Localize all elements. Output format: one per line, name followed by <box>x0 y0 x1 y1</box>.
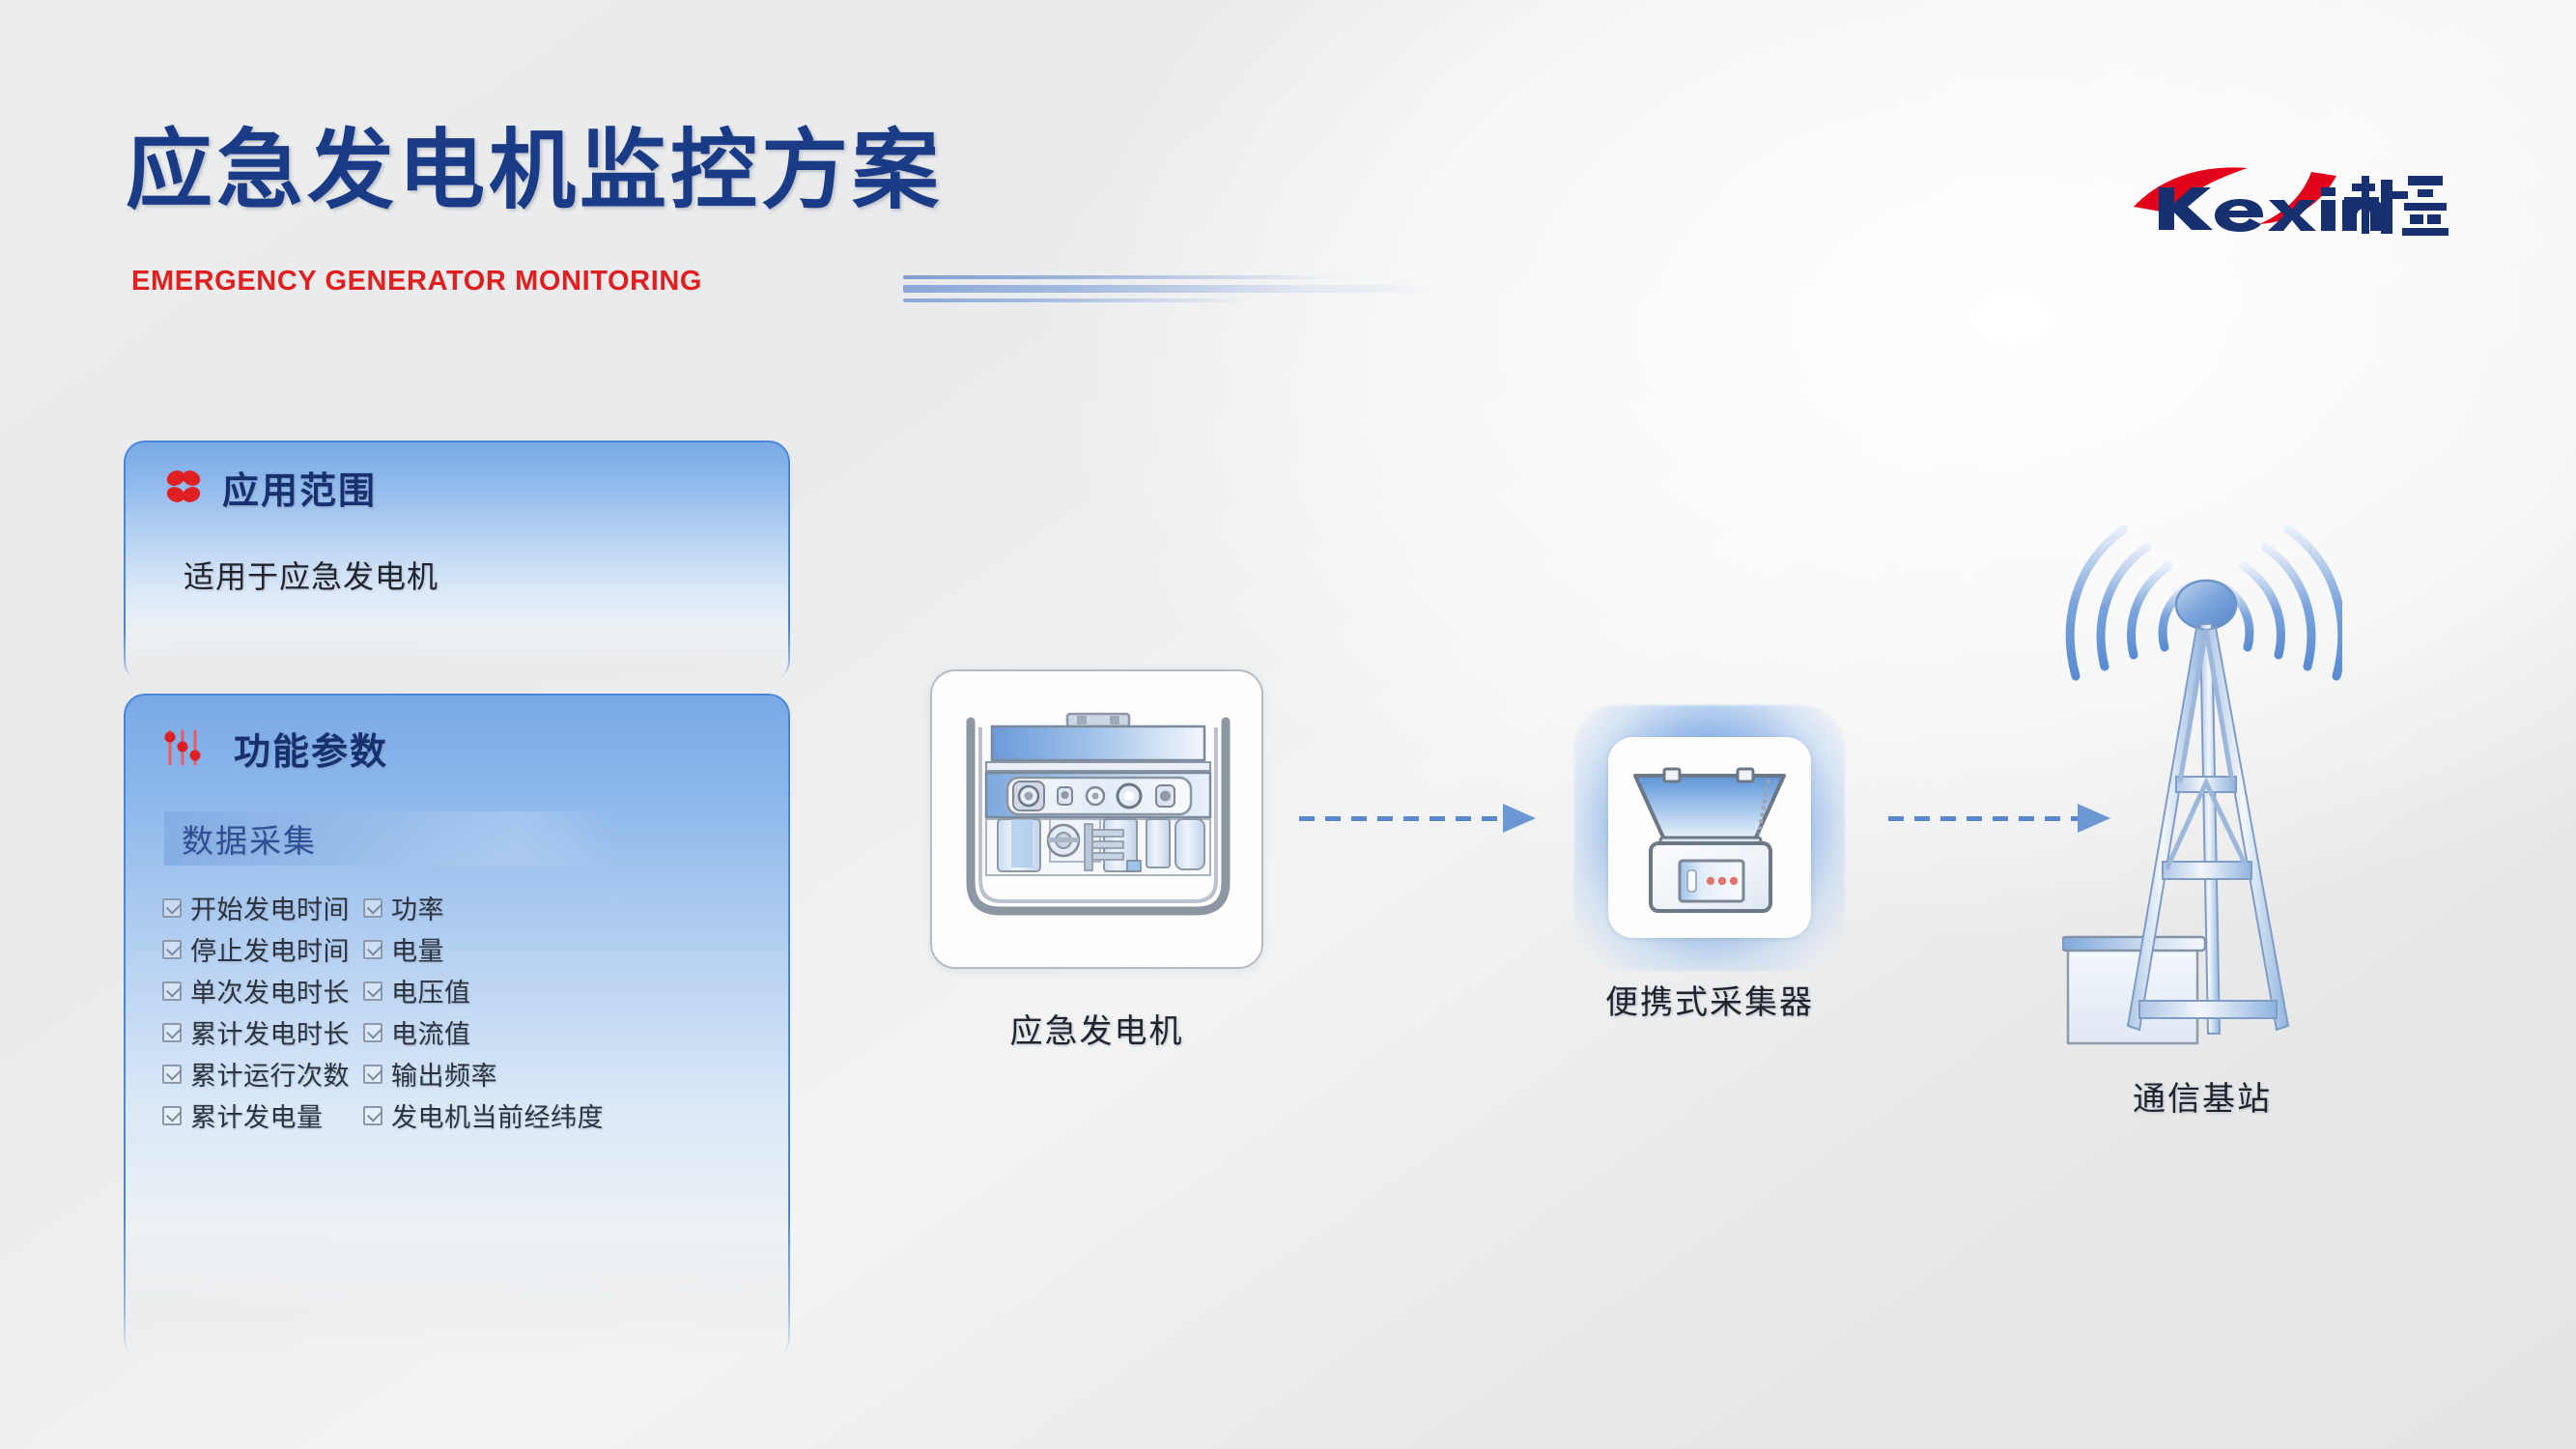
node-emergency-generator <box>930 669 1263 969</box>
flow-diagram: 应急发电机 <box>0 0 2576 1449</box>
arrow-dashes <box>1299 816 1503 821</box>
emergency-generator-icon <box>957 710 1239 932</box>
node-portable-collector <box>1608 737 1811 938</box>
node-caption-generator: 应急发电机 <box>930 1005 1263 1052</box>
arrow-dashes <box>1888 816 2078 821</box>
node-caption-tower: 通信基站 <box>2062 1072 2342 1120</box>
arrow-generator-to-collector <box>1299 804 1536 833</box>
portable-collector-icon <box>1622 751 1798 924</box>
communication-tower-icon <box>2062 493 2342 1072</box>
arrow-head-icon <box>1503 804 1536 833</box>
node-caption-collector: 便携式采集器 <box>1574 976 1845 1023</box>
